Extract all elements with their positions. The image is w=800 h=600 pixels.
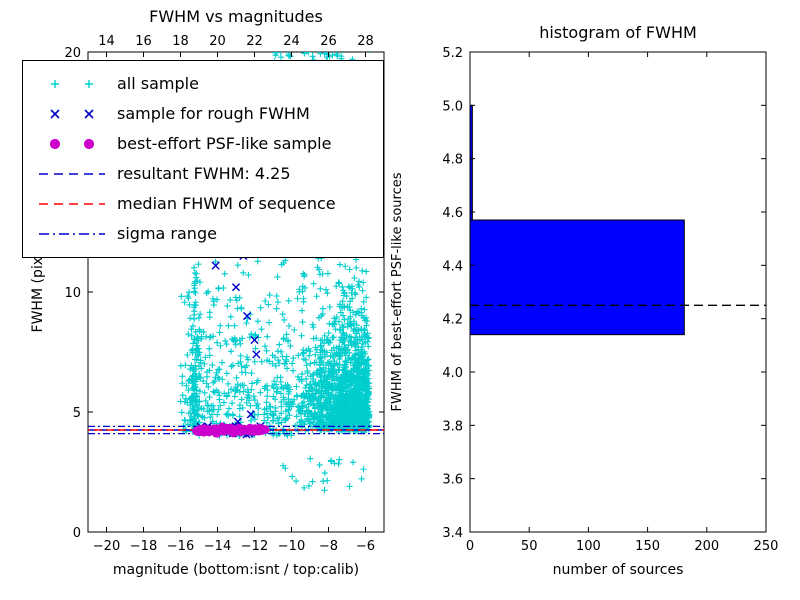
xtick-label: −8 — [319, 539, 338, 554]
data-point-circle — [236, 428, 243, 435]
xtick-label: −10 — [278, 539, 305, 554]
top-xtick-label: 20 — [209, 34, 226, 49]
xtick-label: 200 — [694, 539, 719, 554]
scatter-ylabel: FWHM (pix) — [30, 252, 46, 333]
ytick-label: 4.8 — [442, 153, 463, 168]
legend-item-label: resultant FWHM: 4.25 — [117, 159, 291, 189]
hist-bar — [470, 220, 684, 335]
ytick-label: 20 — [64, 46, 81, 61]
hist-title: histogram of FWHM — [539, 23, 697, 42]
xtick-label: 50 — [521, 539, 538, 554]
legend-item-label: sample for rough FWHM — [117, 99, 310, 129]
top-xtick-label: 16 — [135, 34, 152, 49]
xtick-label: 100 — [576, 539, 601, 554]
ytick-label: 4.4 — [442, 259, 463, 274]
figure-canvas: −20−18−16−14−12−10−8−6051015201416182022… — [0, 0, 800, 600]
ytick-label: 3.4 — [442, 526, 463, 541]
xtick-label: −20 — [93, 539, 120, 554]
hist-ylabel: FWHM of best-effort PSF-like sources — [390, 172, 405, 411]
legend-symbol-x-none — [33, 99, 117, 129]
top-xtick-label: 22 — [246, 34, 263, 49]
data-point-circle — [193, 427, 200, 434]
legend-symbol-none-dashdot — [33, 219, 117, 249]
ytick-label: 4.6 — [442, 206, 463, 221]
legend-symbol-none-dashed — [33, 189, 117, 219]
xtick-label: −12 — [241, 539, 268, 554]
data-point-circle — [202, 425, 209, 432]
top-xtick-label: 24 — [283, 34, 300, 49]
legend-item: resultant FWHM: 4.25 — [33, 159, 373, 189]
ytick-label: 4.2 — [442, 313, 463, 328]
top-xtick-label: 28 — [357, 34, 374, 49]
legend-symbol-none-dashed — [33, 159, 117, 189]
legend-item-label: sigma range — [117, 219, 217, 249]
legend-item: all sample — [33, 69, 373, 99]
top-xtick-label: 18 — [172, 34, 189, 49]
legend-item: best-effort PSF-like sample — [33, 129, 373, 159]
xtick-label: −6 — [356, 539, 375, 554]
psf-like-points — [193, 423, 269, 437]
hist-bar — [470, 105, 472, 220]
scatter-xlabel: magnitude (bottom:isnt / top:calib) — [113, 562, 359, 578]
legend-item: sample for rough FWHM — [33, 99, 373, 129]
legend: all samplesample for rough FWHMbest-effo… — [22, 60, 384, 258]
ytick-label: 5 — [73, 406, 81, 421]
legend-item-label: median FHWM of sequence — [117, 189, 336, 219]
ytick-label: 3.8 — [442, 419, 463, 434]
ytick-label: 3.6 — [442, 473, 463, 488]
legend-item-label: all sample — [117, 69, 199, 99]
ytick-label: 5.0 — [442, 99, 463, 114]
data-point-plus — [301, 45, 307, 51]
data-point-circle — [218, 428, 225, 435]
ytick-label: 10 — [64, 286, 81, 301]
ytick-label: 0 — [73, 526, 81, 541]
hist-xlabel: number of sources — [553, 562, 684, 578]
legend-item-label: best-effort PSF-like sample — [117, 129, 331, 159]
legend-item: sigma range — [33, 219, 373, 249]
top-xtick-label: 26 — [320, 34, 337, 49]
data-point-plus — [309, 45, 315, 51]
xtick-label: −16 — [167, 539, 194, 554]
xtick-label: 0 — [466, 539, 474, 554]
xtick-label: −18 — [130, 539, 157, 554]
top-xtick-label: 14 — [98, 34, 115, 49]
ytick-label: 4.0 — [442, 366, 463, 381]
xtick-label: 150 — [635, 539, 660, 554]
histogram-panel: 0501001502002503.43.63.84.04.24.44.64.85… — [390, 23, 778, 578]
legend-symbol-plus-none — [33, 69, 117, 99]
legend-item: median FHWM of sequence — [33, 189, 373, 219]
ytick-label: 5.2 — [442, 46, 463, 61]
data-point-plus — [307, 46, 313, 52]
data-point-circle — [251, 429, 258, 436]
xtick-label: 250 — [754, 539, 779, 554]
data-point-plus — [300, 46, 306, 52]
scatter-title: FWHM vs magnitudes — [149, 7, 323, 26]
data-point-circle — [242, 427, 249, 434]
legend-symbol-circle-none — [33, 129, 117, 159]
xtick-label: −14 — [204, 539, 231, 554]
data-point-circle — [258, 428, 265, 435]
